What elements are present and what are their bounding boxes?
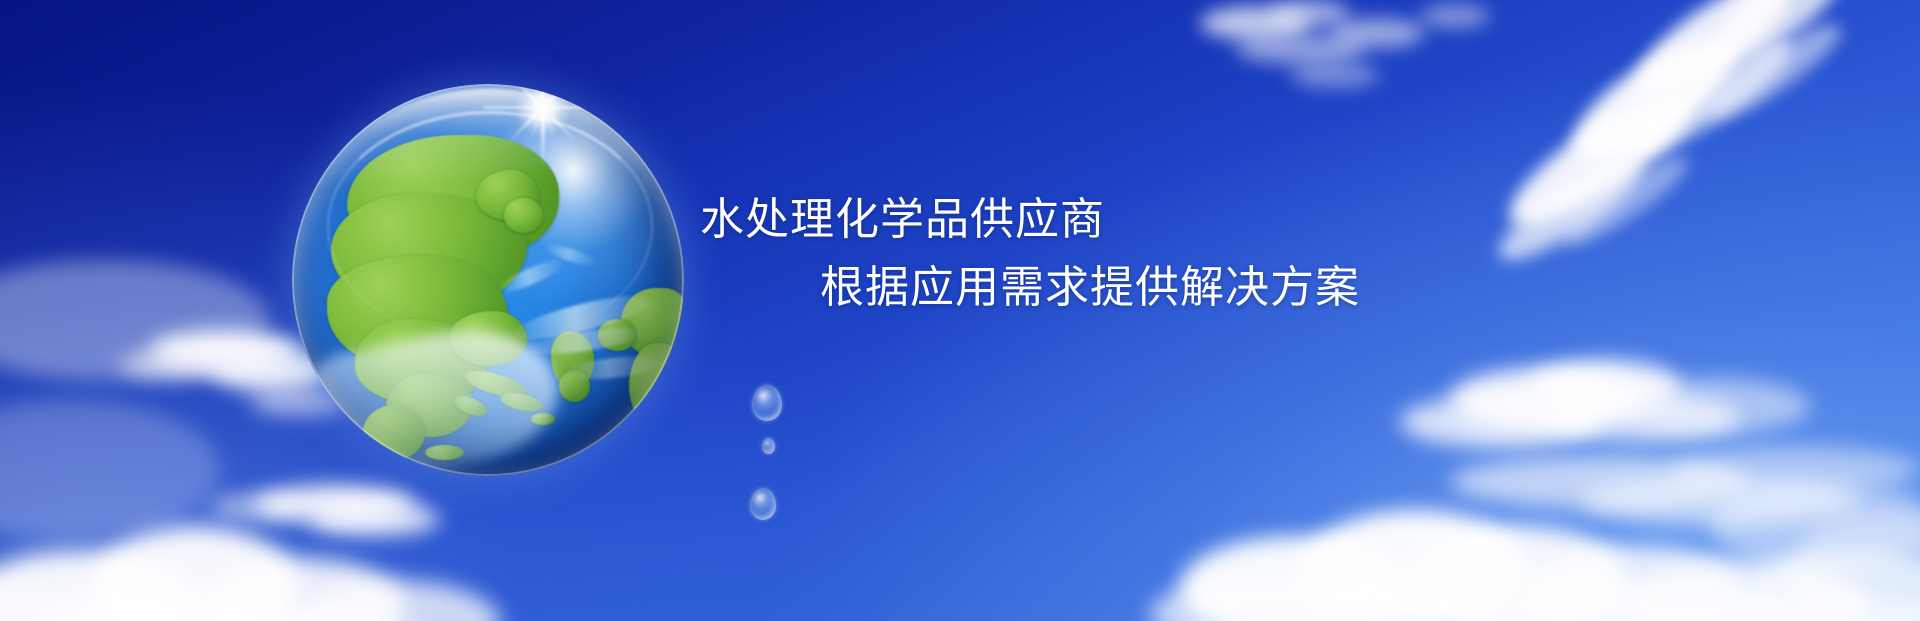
cloud-mass-bottom-right: [1150, 360, 1920, 621]
globe-shading: [292, 84, 684, 476]
globe-glass-arc: [308, 88, 669, 268]
globe-glass-rim: [292, 84, 684, 476]
globe-sphere: [292, 84, 684, 476]
hero-banner: 水处理化学品供应商 根据应用需求提供解决方案: [0, 0, 1920, 621]
headline-block: 水处理化学品供应商 根据应用需求提供解决方案: [0, 0, 1920, 621]
cloud-band-top-right: [1436, 0, 1920, 352]
headline-line-2: 根据应用需求提供解决方案: [820, 262, 1360, 315]
globe-bottom-reflection: [304, 311, 569, 476]
headline-line-1: 水处理化学品供应商: [700, 194, 1105, 247]
sun-highlight-icon: [483, 84, 603, 168]
water-droplet-small: [762, 438, 775, 454]
globe-landmasses: [292, 84, 684, 476]
globe-water-swirl: [510, 287, 654, 348]
globe-water-swirl: [526, 323, 645, 359]
globe-water-swirl: [566, 354, 662, 383]
water-droplet-large: [752, 385, 782, 421]
water-droplet-medium: [750, 488, 776, 520]
globe-water-swirl: [542, 240, 598, 268]
globe-glass-ring: [327, 111, 652, 341]
cloud-wisps-top: [1180, 0, 1600, 160]
earth-globe: [292, 84, 684, 476]
globe-water-swirl: [496, 255, 567, 298]
